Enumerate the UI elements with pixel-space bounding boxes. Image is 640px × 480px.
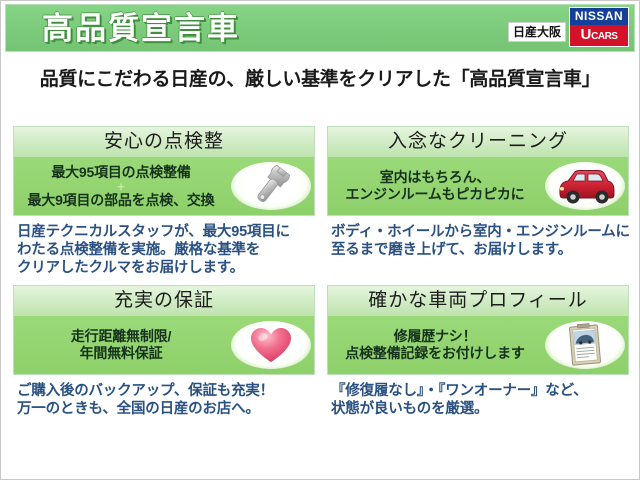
description-line: わたる点検整備を実施。厳格な基準を <box>17 241 315 259</box>
panel-description: 日産テクニカルスタッフが、最大95項目に わたる点検整備を実施。厳格な基準を ク… <box>13 223 315 277</box>
red-car-icon <box>542 157 628 215</box>
lead-headline: 品質にこだわる日産の、厳しい基準をクリアした「高品質宣言車」 <box>1 64 639 91</box>
description-line: 日産テクニカルスタッフが、最大95項目に <box>17 223 315 241</box>
panel-highlight: 室内はもちろん、 エンジンルームもピカピカに <box>328 157 628 215</box>
dealer-name-badge: 日産大阪 <box>508 22 566 42</box>
highlight-line-2: 点検整備記録をお付けします <box>345 345 524 362</box>
feature-panel-cleaning: 入念なクリーニング 室内はもちろん、 エンジンルームもピカピカに <box>327 126 629 277</box>
panel-highlight: 最大95項目の点検整備 + 最大9項目の部品を点検、交換 <box>14 157 314 215</box>
ucars-wordmark: UCARS <box>570 25 628 46</box>
heart-icon-art <box>248 324 294 366</box>
panel-description: ご購入後のバックアップ、保証も充実！ 万一のときも、全国の日産のお店へ。 <box>13 382 315 418</box>
record-booklet-icon-art <box>565 323 605 367</box>
panel-title: 安心の点検整 <box>14 127 314 157</box>
page-title: 高品質宣言車 <box>42 9 240 49</box>
feature-panel-inspection: 安心の点検整 最大95項目の点検整備 + 最大9項目の部品を点検、交換 <box>13 126 315 277</box>
description-line: 状態が良いものを厳選。 <box>331 400 629 418</box>
promo-page: 高品質宣言車 日産大阪 NISSAN UCARS 品質にこだわる日産の、厳しい基… <box>0 0 640 480</box>
panel-description: 『修復履なし』・『ワンオーナー』など、 状態が良いものを厳選。 <box>327 382 629 418</box>
panel-highlight: 修履歴ナシ！ 点検整備記録をお付けします <box>328 316 628 374</box>
nissan-ucars-logo: NISSAN UCARS <box>569 7 629 47</box>
record-booklet-icon <box>542 316 628 374</box>
panel-highlight: 走行距離無制限/ 年間無料保証 <box>14 316 314 374</box>
highlight-line-1: 最大95項目の点検整備 <box>51 164 190 181</box>
panel-highlight-copy: 修履歴ナシ！ 点検整備記録をお付けします <box>328 316 542 374</box>
description-line: クリアしたクルマをお届けします。 <box>17 259 315 277</box>
panel-frame: 確かな車両プロフィール 修履歴ナシ！ 点検整備記録をお付けします <box>327 285 629 375</box>
wrench-icon-art <box>244 164 298 208</box>
ucars-cars: CARS <box>591 31 617 42</box>
description-line: ボディ・ホイールから室内・エンジンルームに <box>331 223 629 241</box>
red-car-icon-art <box>550 165 620 207</box>
panel-title: 入念なクリーニング <box>328 127 628 157</box>
feature-panel-warranty: 充実の保証 走行距離無制限/ 年間無料保証 <box>13 285 315 418</box>
nissan-wordmark: NISSAN <box>570 8 628 25</box>
description-line: 至るまで磨き上げて、お届けします。 <box>331 241 629 259</box>
highlight-line-1: 室内はもちろん、 <box>380 169 490 186</box>
panel-title: 確かな車両プロフィール <box>328 286 628 316</box>
plus-separator: + <box>117 181 125 192</box>
feature-grid: 安心の点検整 最大95項目の点検整備 + 最大9項目の部品を点検、交換 <box>13 126 629 418</box>
panel-highlight-copy: 走行距離無制限/ 年間無料保証 <box>14 316 228 374</box>
panel-frame: 安心の点検整 最大95項目の点検整備 + 最大9項目の部品を点検、交換 <box>13 126 315 216</box>
panel-frame: 充実の保証 走行距離無制限/ 年間無料保証 <box>13 285 315 375</box>
heart-icon <box>228 316 314 374</box>
panel-title: 充実の保証 <box>14 286 314 316</box>
brand-block: 日産大阪 NISSAN UCARS <box>508 7 629 47</box>
panel-frame: 入念なクリーニング 室内はもちろん、 エンジンルームもピカピカに <box>327 126 629 216</box>
highlight-line-2: 最大9項目の部品を点検、交換 <box>28 192 215 209</box>
highlight-line-1: 修履歴ナシ！ <box>394 328 477 345</box>
panel-highlight-copy: 室内はもちろん、 エンジンルームもピカピカに <box>328 157 542 215</box>
ucars-u: U <box>581 26 592 43</box>
panel-description: ボディ・ホイールから室内・エンジンルームに 至るまで磨き上げて、お届けします。 <box>327 223 629 259</box>
description-line: ご購入後のバックアップ、保証も充実！ <box>17 382 315 400</box>
feature-panel-vehicle-profile: 確かな車両プロフィール 修履歴ナシ！ 点検整備記録をお付けします <box>327 285 629 418</box>
description-line: 万一のときも、全国の日産のお店へ。 <box>17 400 315 418</box>
highlight-line-1: 走行距離無制限/ <box>71 328 171 345</box>
page-header: 高品質宣言車 日産大阪 NISSAN UCARS <box>5 4 635 52</box>
description-line: 『修復履なし』・『ワンオーナー』など、 <box>331 382 629 400</box>
panel-highlight-copy: 最大95項目の点検整備 + 最大9項目の部品を点検、交換 <box>14 157 228 215</box>
wrench-icon <box>228 157 314 215</box>
highlight-line-2: 年間無料保証 <box>80 345 163 362</box>
highlight-line-2: エンジンルームもピカピカに <box>346 186 525 203</box>
